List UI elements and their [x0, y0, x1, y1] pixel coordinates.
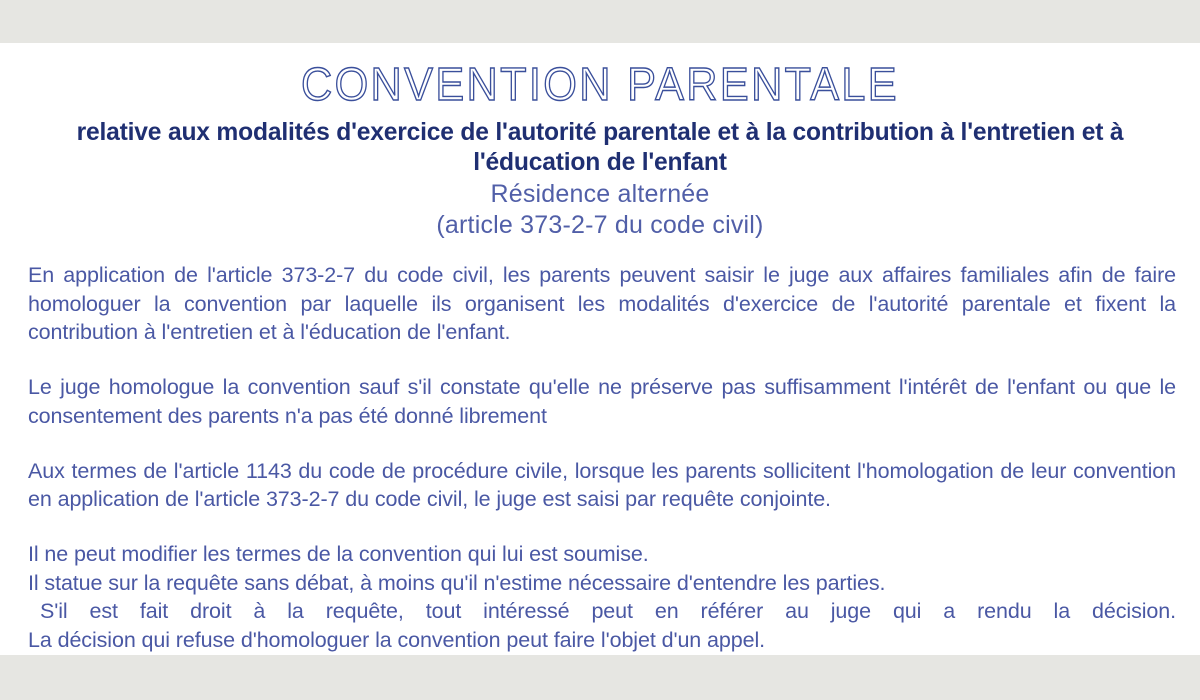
residence-type-label: Résidence alternée	[0, 179, 1200, 210]
paragraph-procedure-civile: Aux termes de l'article 1143 du code de …	[28, 457, 1176, 514]
bottom-margin-band	[0, 655, 1200, 700]
paragraph-application-article: En application de l'article 373-2-7 du c…	[28, 261, 1176, 347]
decision-rule-line-1: Il ne peut modifier les termes de la con…	[28, 540, 1176, 569]
body-content: En application de l'article 373-2-7 du c…	[28, 261, 1176, 654]
document-page: CONVENTION PARENTALE relative aux modali…	[0, 43, 1200, 655]
top-margin-band	[0, 0, 1200, 43]
slide-canvas: CONVENTION PARENTALE relative aux modali…	[0, 0, 1200, 700]
page-title: CONVENTION PARENTALE	[36, 57, 1164, 111]
decision-rule-line-4: La décision qui refuse d'homologuer la c…	[28, 626, 1176, 655]
decision-rule-line-3: S'il est fait droit à la requête, tout i…	[28, 597, 1176, 626]
paragraph-decision-rules: Il ne peut modifier les termes de la con…	[28, 540, 1176, 654]
legal-article-reference: (article 373-2-7 du code civil)	[0, 210, 1200, 241]
page-subtitle: relative aux modalités d'exercice de l'a…	[43, 117, 1156, 177]
decision-rule-line-2: Il statue sur la requête sans débat, à m…	[28, 569, 1176, 598]
header-block: CONVENTION PARENTALE relative aux modali…	[0, 43, 1200, 241]
paragraph-judge-homologation: Le juge homologue la convention sauf s'i…	[28, 373, 1176, 430]
